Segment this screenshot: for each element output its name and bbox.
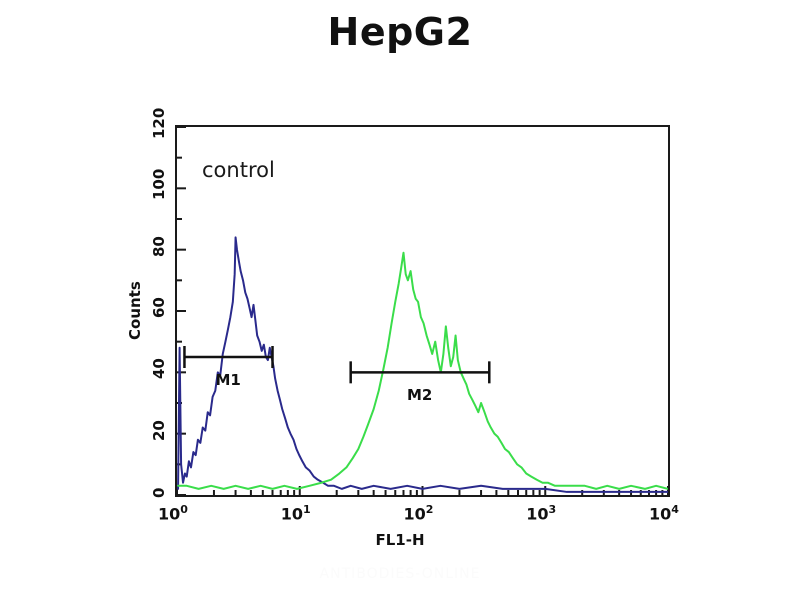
x-tick-label: 100 — [158, 503, 188, 523]
watermark-text: ANTIBODIES-ONLINE — [0, 566, 800, 582]
y-tick-label: 20 — [150, 420, 168, 441]
y-tick-label: 120 — [150, 107, 168, 138]
x-tick-label: 101 — [281, 503, 311, 523]
x-tick-label: 102 — [404, 503, 434, 523]
y-tick-label: 60 — [150, 297, 168, 318]
y-tick-label: 0 — [150, 487, 168, 497]
flow-cytometry-figure: HepG2 020406080100120 Counts 10010110210… — [0, 0, 800, 600]
x-axis-title: FL1-H — [0, 531, 800, 549]
gate-label-m1: M1 — [215, 371, 240, 389]
y-tick-label: 100 — [150, 169, 168, 200]
control-annotation: control — [202, 158, 275, 182]
y-tick-label: 40 — [150, 358, 168, 379]
histogram-traces — [178, 237, 668, 492]
y-tick-label: 80 — [150, 236, 168, 257]
y-axis-title: Counts — [126, 281, 144, 340]
histogram-canvas — [177, 127, 668, 495]
gate-label-m2: M2 — [407, 386, 432, 404]
figure-title: HepG2 — [0, 10, 800, 54]
x-tick-label: 103 — [526, 503, 556, 523]
x-tick-label: 104 — [649, 503, 679, 523]
